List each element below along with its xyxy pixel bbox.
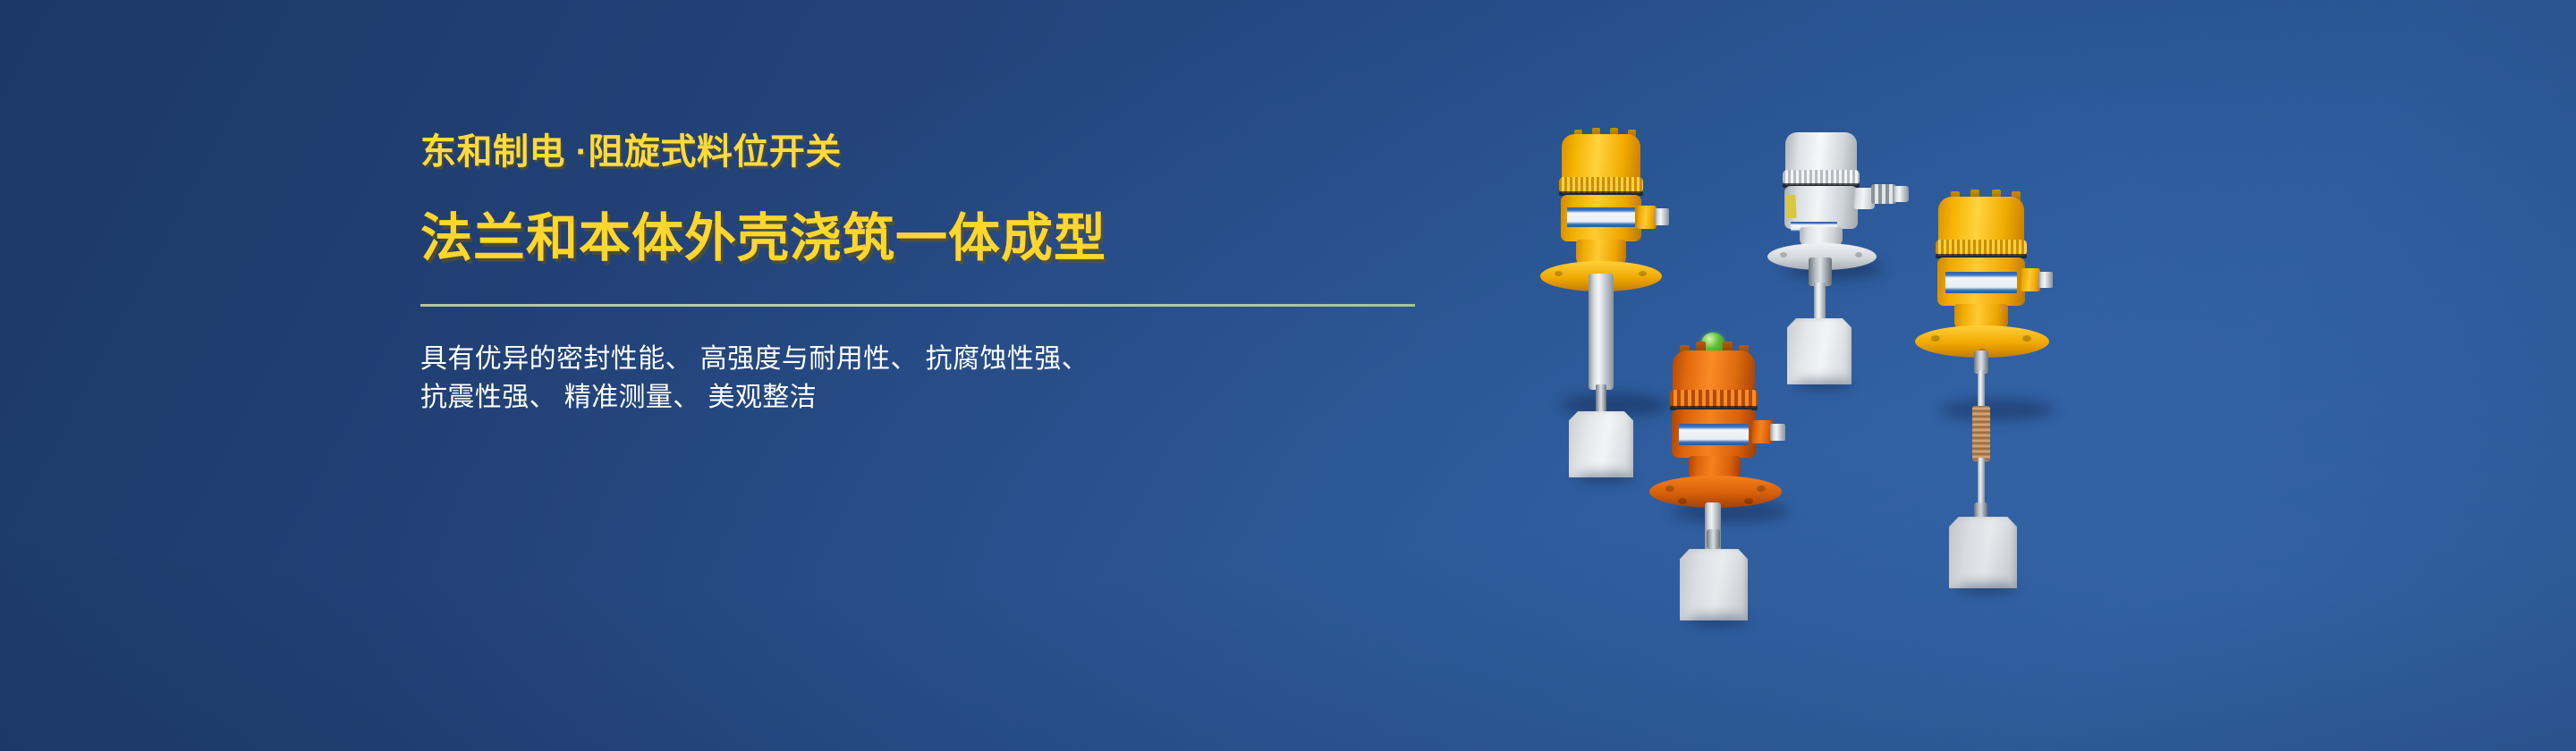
- conduit-port: [2021, 268, 2040, 291]
- promo-banner: 东和制电 ·阻旋式料位开关 法兰和本体外壳浇筑一体成型 具有优异的密封性能、 高…: [0, 0, 2576, 751]
- nameplate-surface: [1567, 207, 1635, 227]
- description-line-2: 抗震性强、 精准测量、 美观整洁: [420, 379, 1583, 418]
- measuring-paddle: [1949, 517, 2017, 588]
- cable-gland: [2038, 272, 2053, 288]
- product-unit-orange-flange: [1646, 331, 1825, 679]
- conduit-port: [1637, 206, 1657, 229]
- banner-headline: 法兰和本体外壳浇筑一体成型: [420, 213, 1583, 265]
- description-line-1: 具有优异的密封性能、 高强度与耐用性、 抗腐蚀性强、: [420, 341, 1583, 379]
- flange-hole: [1931, 335, 1940, 342]
- cable-gland: [1655, 208, 1669, 225]
- measuring-paddle: [1569, 411, 1633, 477]
- product-unit-yellow-spring: [1910, 188, 2089, 608]
- nameplate-surface: [1945, 272, 2017, 293]
- product-nameplate: [1679, 424, 1749, 445]
- product-nameplate: [1945, 272, 2017, 293]
- banner-eyebrow: 东和制电 ·阻旋式料位开关: [420, 134, 1583, 170]
- product-nameplate: [1567, 207, 1635, 227]
- banner-copy: 东和制电 ·阻旋式料位开关 法兰和本体外壳浇筑一体成型 具有优异的密封性能、 高…: [420, 134, 1583, 417]
- extension-shaft: [1589, 274, 1614, 390]
- paddle-shadow: [1956, 583, 2017, 594]
- flange-hole: [2022, 335, 2031, 342]
- flange-hole: [1744, 498, 1753, 504]
- paddle-shadow: [1687, 615, 1748, 626]
- spring-guard: [1972, 406, 1990, 461]
- cable-gland: [1893, 186, 1909, 202]
- side-warning-tag: [1785, 195, 1796, 219]
- product-cluster: [1503, 116, 2093, 617]
- flange-hole: [1757, 485, 1766, 492]
- flange-hole: [1780, 252, 1787, 257]
- cable-gland: [1770, 424, 1785, 441]
- paddle-blade: [1949, 517, 2017, 588]
- flange-hole: [1678, 498, 1687, 504]
- banner-description: 具有优异的密封性能、 高强度与耐用性、 抗腐蚀性强、 抗震性强、 精准测量、 美…: [420, 341, 1583, 417]
- shaft-coupling: [1707, 529, 1720, 549]
- paddle-blade: [1680, 549, 1748, 620]
- flange-hole: [1555, 271, 1563, 276]
- paddle-blade: [1569, 411, 1633, 477]
- flange-hole: [1639, 271, 1647, 276]
- headline-divider: [420, 304, 1415, 307]
- flange-hole: [1855, 252, 1862, 257]
- nameplate-surface: [1679, 424, 1749, 445]
- cap-knurl-ring: [1670, 390, 1758, 408]
- paddle-shadow: [1576, 472, 1635, 483]
- flange-hole: [1665, 485, 1674, 492]
- measuring-paddle: [1680, 549, 1748, 620]
- unit-shadow: [1940, 399, 2055, 420]
